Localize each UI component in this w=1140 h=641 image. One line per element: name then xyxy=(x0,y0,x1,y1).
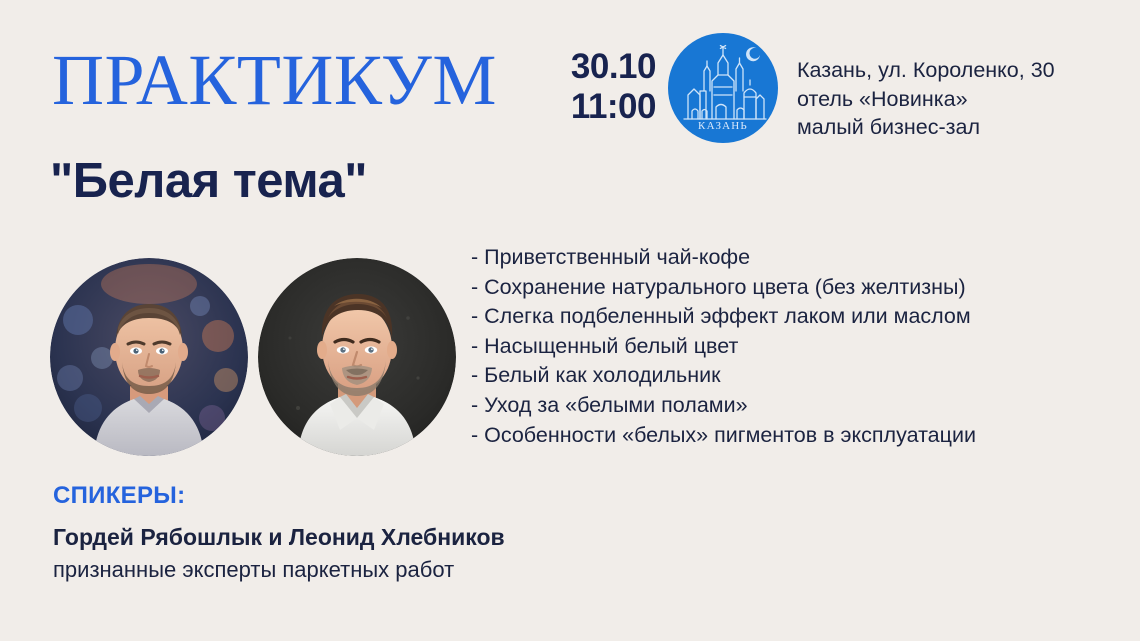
venue-line-1: Казань, ул. Короленко, 30 xyxy=(797,56,1055,85)
program-bullet-list: - Приветственный чай-кофе - Сохранение н… xyxy=(471,243,1111,450)
list-item: - Насыщенный белый цвет xyxy=(471,332,1111,362)
speakers-description: признанные эксперты паркетных работ xyxy=(53,557,454,583)
speaker-photo-1 xyxy=(50,258,248,456)
list-item: - Белый как холодильник xyxy=(471,361,1111,391)
list-item: - Приветственный чай-кофе xyxy=(471,243,1111,273)
page-title: ПРАКТИКУМ xyxy=(52,42,497,118)
poster-canvas: ПРАКТИКУМ 30.10 11:00 xyxy=(0,0,1140,641)
list-item: - Сохранение натурального цвета (без жел… xyxy=(471,273,1111,303)
kazan-logo-badge: КАЗАНЬ xyxy=(668,33,778,143)
venue-line-3: малый бизнес-зал xyxy=(797,113,1055,142)
speaker-photo-2 xyxy=(258,258,456,456)
list-item: - Особенности «белых» пигментов в эксплу… xyxy=(471,421,1111,451)
event-datetime: 30.10 11:00 xyxy=(524,47,656,127)
event-time: 11:00 xyxy=(524,87,656,127)
speakers-heading: СПИКЕРЫ: xyxy=(53,482,185,510)
venue-line-2: отель «Новинка» xyxy=(797,85,1055,114)
event-date: 30.10 xyxy=(524,47,656,87)
speakers-names: Гордей Рябошлык и Леонид Хлебников xyxy=(53,524,505,551)
list-item: - Уход за «белыми полами» xyxy=(471,391,1111,421)
venue-address: Казань, ул. Короленко, 30 отель «Новинка… xyxy=(797,56,1055,142)
speaker-photo-2-image xyxy=(258,258,456,456)
page-subtitle: "Белая тема" xyxy=(50,152,367,210)
kazan-logo-caption: КАЗАНЬ xyxy=(668,120,778,132)
list-item: - Слегка подбеленный эффект лаком или ма… xyxy=(471,302,1111,332)
speaker-photo-1-image xyxy=(50,258,248,456)
